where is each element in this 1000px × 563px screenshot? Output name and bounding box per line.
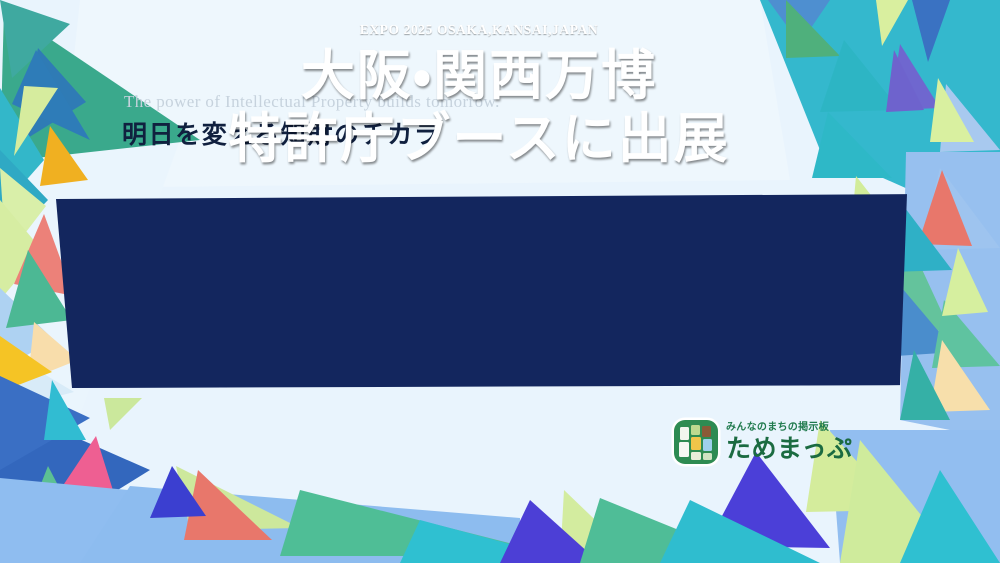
event-banner — [0, 190, 1000, 395]
logo-tile-1 — [691, 425, 700, 435]
logo-tile-7 — [703, 453, 712, 460]
banner-background-shape — [0, 190, 1000, 395]
logo-text-group: みんなのまちの掲示板 ためまっぷ — [726, 423, 853, 461]
expo-label: EXPO 2025 OSAKA,KANSAI,JAPAN — [360, 22, 599, 38]
logo-tile-6 — [691, 452, 701, 460]
logo-tile-0 — [680, 427, 689, 440]
headline-line-2: 特許庁ブースに出展 — [228, 107, 729, 170]
banner-text-group: EXPO 2025 OSAKA,KANSAI,JAPAN 大阪・関西万博 特許庁… — [0, 0, 1000, 205]
logo-brand-name: ためまっぷ — [726, 436, 853, 461]
logo-tagline: みんなのまちの掲示板 — [726, 423, 853, 433]
tamemap-logo[interactable]: みんなのまちの掲示板 ためまっぷ — [674, 420, 853, 464]
headline-line-1: 大阪・関西万博 — [301, 44, 657, 107]
logo-tile-5 — [703, 439, 712, 451]
logo-tile-4 — [691, 437, 701, 450]
logo-tile-3 — [679, 442, 689, 457]
poster-canvas: EXPO 2025 OSAKA,KANSAI,JAPAN 大阪・関西万博 特許庁… — [0, 0, 1000, 563]
logo-tile-2 — [702, 426, 711, 437]
tamemap-grid-icon — [674, 420, 718, 464]
